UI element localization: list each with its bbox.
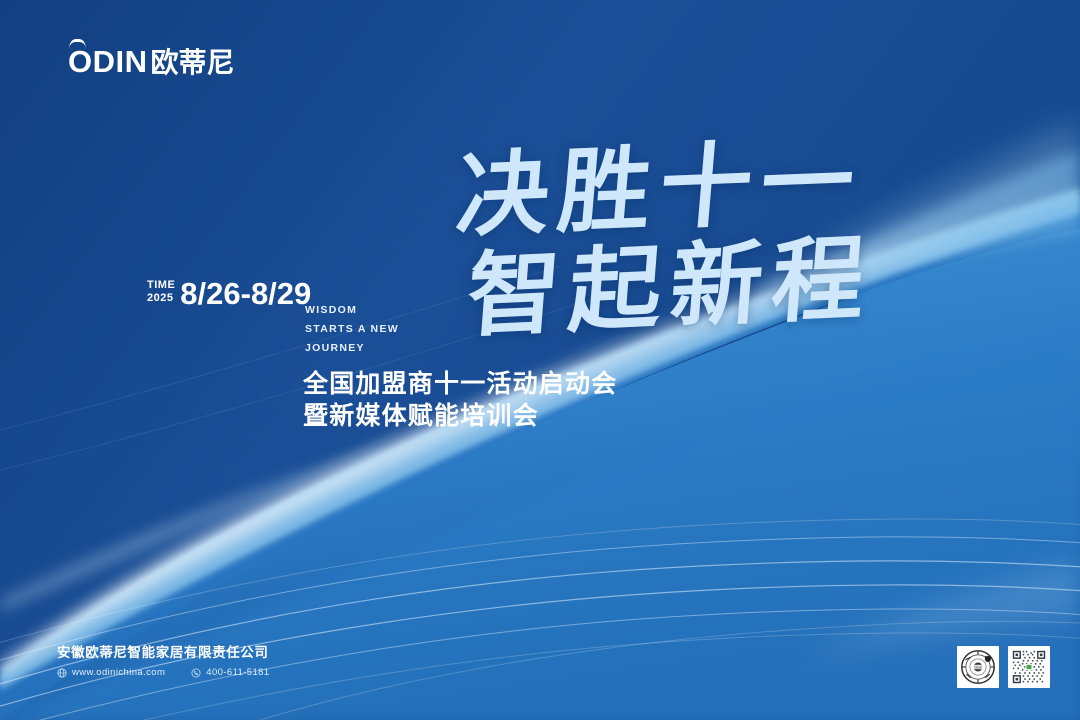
date-label-group: TIME 2025 bbox=[147, 279, 175, 304]
headline-line-2: 智起新程 bbox=[463, 204, 879, 355]
logo-latin-text: ODIN bbox=[68, 46, 148, 77]
background-artwork bbox=[0, 0, 1080, 720]
logo-chinese-label: 欧蒂尼 bbox=[151, 49, 235, 77]
date-range: 8/26-8/29 bbox=[180, 278, 311, 309]
qr-code-wechat-graphic bbox=[1011, 649, 1047, 685]
logo-latin-label: ODIN bbox=[68, 44, 148, 79]
qr-code-logo[interactable]: ODIN bbox=[957, 646, 999, 688]
tagline-line-2: STARTS A NEW bbox=[305, 320, 399, 339]
subtitle-line-2: 暨新媒体赋能培训会 bbox=[303, 400, 617, 432]
event-date-block: TIME 2025 8/26-8/29 bbox=[147, 278, 311, 309]
footer-contact-row: www.odinichina.com 400-611-5181 bbox=[57, 667, 270, 678]
footer-phone-text: 400-611-5181 bbox=[206, 667, 269, 678]
footer-block: 安徽欧蒂尼智能家居有限责任公司 www.odinichina.com 400-6… bbox=[57, 645, 270, 678]
subtitle-line-1: 全国加盟商十一活动启动会 bbox=[303, 368, 617, 400]
event-subtitle: 全国加盟商十一活动启动会 暨新媒体赋能培训会 bbox=[303, 368, 617, 432]
qr-code-wechat[interactable] bbox=[1008, 646, 1050, 688]
date-label-year: 2025 bbox=[147, 292, 175, 304]
svg-text:ODIN: ODIN bbox=[974, 665, 982, 669]
globe-icon bbox=[57, 668, 67, 678]
tagline-line-1: WISDOM bbox=[305, 301, 399, 320]
tagline-line-3: JOURNEY bbox=[305, 339, 399, 358]
english-tagline: WISDOM STARTS A NEW JOURNEY bbox=[305, 301, 399, 358]
footer-phone-item[interactable]: 400-611-5181 bbox=[191, 667, 269, 678]
footer-company-name: 安徽欧蒂尼智能家居有限责任公司 bbox=[57, 645, 270, 661]
logo-macron-icon bbox=[69, 39, 86, 49]
footer-website-text: www.odinichina.com bbox=[72, 667, 165, 678]
qr-code-logo-graphic: ODIN bbox=[960, 649, 996, 685]
footer-website-item[interactable]: www.odinichina.com bbox=[57, 667, 165, 678]
date-label-time: TIME bbox=[147, 279, 175, 291]
phone-icon bbox=[191, 668, 201, 678]
brand-logo: ODIN 欧蒂尼 bbox=[68, 46, 235, 77]
qr-code-group: ODIN bbox=[957, 646, 1050, 688]
poster-canvas: ODIN 欧蒂尼 决胜十一 智起新程 TIME 2025 8/26-8/29 W… bbox=[0, 0, 1080, 720]
